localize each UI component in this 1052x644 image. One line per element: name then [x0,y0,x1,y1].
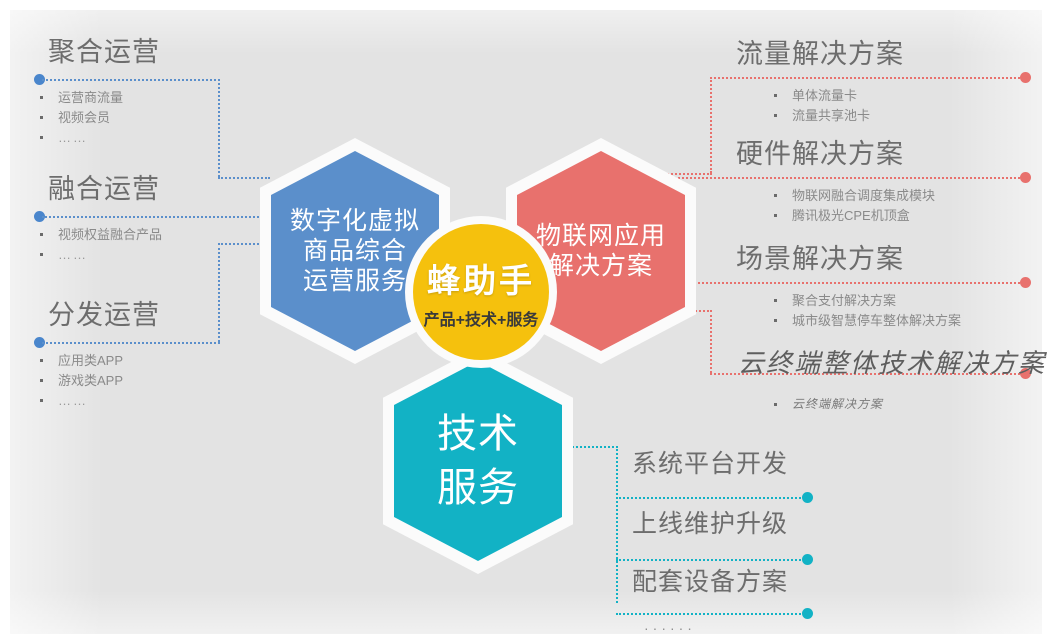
list-item: 运营商流量 [36,88,123,108]
group-right-4-bullets: 云终端解决方案 [770,395,883,414]
connector-line-right-2-h [650,177,1028,179]
list-item: 应用类APP [36,351,123,371]
group-title: 聚合运营 [48,30,160,69]
list-item: …… [36,128,123,148]
connector-line-left-3-v [218,243,220,342]
hexagon-label-line: 解决方案 [549,251,653,281]
connector-line-right-1-v [710,77,712,173]
group-left-1: 聚合运营 [48,30,160,69]
list-item: 聚合支付解决方案 [770,291,961,311]
group-left-1-bullets: 运营商流量 视频会员 …… [36,88,123,148]
group-title: 融合运营 [48,167,160,206]
list-item: 流量共享池卡 [770,106,870,126]
group-right-4: 云终端整体技术解决方案 [738,343,1046,380]
group-right-2: 硬件解决方案 [736,132,904,171]
hexagon-label-line: 商品综合 [303,236,407,266]
group-title: 系统平台开发 [632,444,788,480]
connector-line-left-1-v [218,79,220,177]
connector-line-right-3-h [650,282,1028,284]
list-item: 云终端解决方案 [770,395,883,414]
hexagon-technical-service[interactable]: 技术 服务 [383,348,573,574]
core-circle-brand[interactable]: 蜂助手 产品+技术+服务 [413,224,549,360]
group-left-2-bullets: 视频权益融合产品 …… [36,225,162,265]
group-left-3: 分发运营 [48,293,160,332]
bottom-ellipsis: ······ [644,620,696,636]
connector-line-left-2-h [42,216,270,218]
connector-line-bottom-entry [572,446,618,448]
list-item: 物联网融合调度集成模块 [770,186,935,206]
hexagon-label-line: 服务 [437,461,519,515]
connector-line-bottom-2 [616,559,808,561]
group-bottom-3: 配套设备方案 [632,562,788,598]
slide-background: 数字化虚拟 商品综合 运营服务 物联网应用 解决方案 技术 服务 [10,10,1042,634]
connector-knob-right-3 [1020,277,1031,288]
group-right-3: 场景解决方案 [736,237,904,276]
list-item: …… [36,391,123,411]
hexagon-label-line: 技术 [437,407,519,461]
connector-knob-bottom-3 [802,608,813,619]
group-right-2-bullets: 物联网融合调度集成模块 腾讯极光CPE机顶盒 [770,186,935,226]
hexagon-label-line: 运营服务 [303,266,407,296]
group-bottom-2: 上线维护升级 [632,504,788,540]
connector-knob-right-1 [1020,72,1031,83]
group-right-1: 流量解决方案 [736,32,904,71]
group-left-2: 融合运营 [48,167,160,206]
slide-canvas: 数字化虚拟 商品综合 运营服务 物联网应用 解决方案 技术 服务 [0,0,1052,644]
group-title: 云终端整体技术解决方案 [738,343,1046,380]
group-right-1-bullets: 单体流量卡 流量共享池卡 [770,86,870,126]
brand-tagline: 产品+技术+服务 [424,306,539,330]
group-right-3-bullets: 聚合支付解决方案 城市级智慧停车整体解决方案 [770,291,961,331]
connector-knob-bottom-2 [802,554,813,565]
list-item: 单体流量卡 [770,86,870,106]
connector-line-bottom-1 [616,497,808,499]
connector-line-left-1-h [42,79,220,81]
connector-line-right-1-h [710,77,1028,79]
group-title: 上线维护升级 [632,504,788,540]
connector-line-bottom-3 [616,613,808,615]
group-title: 分发运营 [48,293,160,332]
list-item: 视频权益融合产品 [36,225,162,245]
connector-line-bottom-v [616,446,618,603]
list-item: 游戏类APP [36,371,123,391]
group-title: 流量解决方案 [736,32,904,71]
connector-line-right-4-v [710,310,712,373]
hexagon-label-line: 物联网应用 [536,221,666,251]
connector-line-left-3-h [42,342,220,344]
group-title: 场景解决方案 [736,237,904,276]
connector-knob-right-2 [1020,172,1031,183]
list-item: 城市级智慧停车整体解决方案 [770,311,961,331]
hexagon-label-line: 数字化虚拟 [290,206,420,236]
group-left-3-bullets: 应用类APP 游戏类APP …… [36,351,123,411]
brand-name: 蜂助手 [427,254,535,302]
list-item: …… [36,245,162,265]
connector-knob-bottom-1 [802,492,813,503]
group-title: 配套设备方案 [632,562,788,598]
group-title: 硬件解决方案 [736,132,904,171]
list-item: 腾讯极光CPE机顶盒 [770,206,935,226]
list-item: 视频会员 [36,108,123,128]
group-bottom-1: 系统平台开发 [632,444,788,480]
